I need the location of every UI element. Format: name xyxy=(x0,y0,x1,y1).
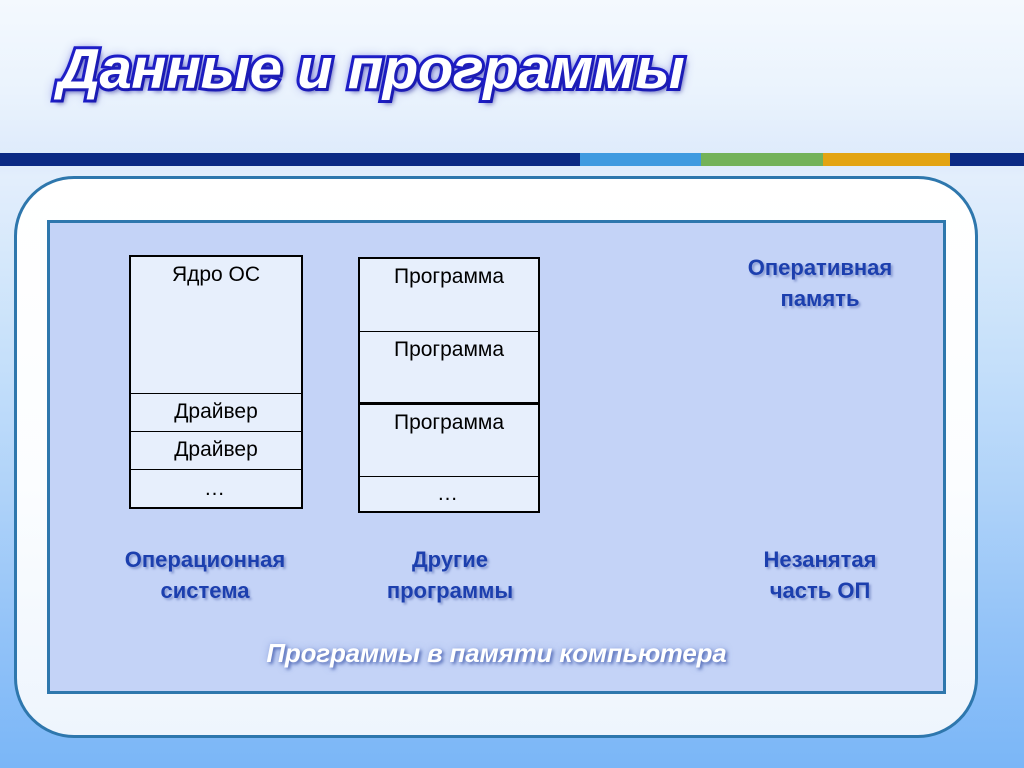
other-programs-memory-block: Программа Программа Программа … xyxy=(358,257,540,513)
callout-free-memory: Незанятая часть ОП xyxy=(676,544,964,606)
title-zone: Данные и программы xyxy=(0,36,1024,126)
memory-cell-program-2: Программа xyxy=(360,332,538,405)
memory-cell-driver-1: Драйвер xyxy=(131,394,301,432)
divider-segment-gold xyxy=(823,153,950,166)
memory-cell-os-ellipsis: … xyxy=(131,470,301,507)
divider-segment-navy-right xyxy=(950,153,1024,166)
memory-cell-program-1: Программа xyxy=(360,259,538,332)
diagram-caption: Программы в памяти компьютера xyxy=(47,638,946,669)
callout-other-programs: Другие программы xyxy=(306,544,594,606)
divider-segment-green xyxy=(701,153,823,166)
memory-cell-program-3: Программа xyxy=(360,405,538,477)
divider-bar xyxy=(0,153,1024,166)
divider-segment-blue xyxy=(580,153,701,166)
callout-ram: Оперативная память xyxy=(676,252,964,314)
operating-system-memory-block: Ядро ОС Драйвер Драйвер … xyxy=(129,255,303,509)
memory-cell-driver-2: Драйвер xyxy=(131,432,301,470)
memory-cell-apps-ellipsis: … xyxy=(360,477,538,511)
divider-segment-navy-left xyxy=(0,153,580,166)
page-title: Данные и программы xyxy=(58,36,684,102)
memory-cell-os-kernel: Ядро ОС xyxy=(131,257,301,394)
slide-root: Данные и программы Ядро ОС Драйвер Драйв… xyxy=(0,0,1024,768)
